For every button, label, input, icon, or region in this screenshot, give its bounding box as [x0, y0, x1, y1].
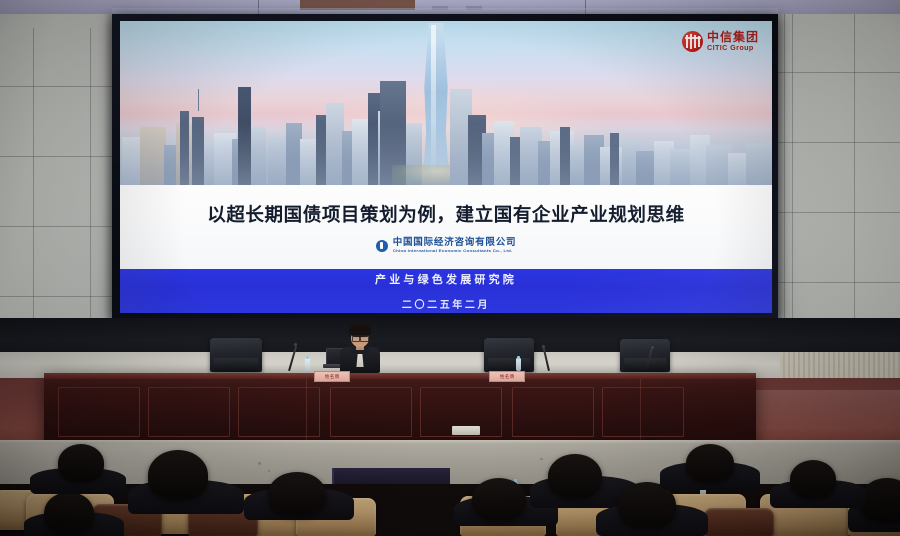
- audience-seat: [704, 508, 774, 536]
- organization-name-cn: 中国国际经济咨询有限公司: [393, 238, 517, 248]
- nameplate-label: 姓名牌: [325, 373, 340, 379]
- audience-head: [148, 450, 208, 500]
- slide-hero-photo: 中信集团 CITIC Group: [120, 21, 772, 185]
- slide-blue-band: 产业与绿色发展研究院 二〇二五年二月: [120, 269, 772, 313]
- dais-chair: [620, 339, 670, 372]
- atmospheric-haze: [120, 123, 772, 185]
- dais-top-edge: [44, 373, 756, 379]
- barrier-cap: [0, 440, 900, 444]
- citic-mark-icon: [682, 31, 703, 52]
- audience-head: [686, 444, 734, 482]
- organization-logo: 中国国际经济咨询有限公司 China International Economi…: [376, 238, 517, 254]
- speaker-glasses: [352, 335, 369, 339]
- ciec-mark-icon: [376, 240, 388, 252]
- audience-head: [58, 444, 104, 482]
- slide-date: 二〇二五年二月: [402, 296, 490, 311]
- microphone-head: [294, 343, 297, 346]
- nameplate-label: 姓名牌: [500, 373, 515, 379]
- slide-department: 产业与绿色发展研究院: [375, 271, 517, 287]
- presentation-screen: 中信集团 CITIC Group 以超长期国债项目策划为例，建立国有企业产业规划…: [120, 21, 772, 313]
- microphone-head: [542, 345, 545, 348]
- audience-head: [472, 478, 526, 520]
- slide-title: 以超长期国债项目策划为例，建立国有企业产业规划思维: [207, 201, 685, 227]
- screenshot-root: 中信集团 CITIC Group 以超长期国债项目策划为例，建立国有企业产业规划…: [0, 0, 900, 536]
- dais-chair: [210, 338, 262, 372]
- water-bottle: [305, 358, 310, 371]
- citic-logo-name-en: CITIC Group: [707, 44, 759, 51]
- audience-head: [44, 492, 94, 534]
- audience-head: [860, 478, 900, 522]
- nameplate: 姓名牌: [314, 371, 350, 382]
- citic-logo-name-cn: 中信集团: [707, 31, 759, 43]
- nameplate: 姓名牌: [489, 371, 525, 382]
- audience-head: [548, 454, 602, 498]
- water-bottle: [516, 358, 521, 371]
- speaker-person: [338, 320, 382, 372]
- audience-head: [268, 472, 326, 516]
- back-wall-dark: [0, 318, 900, 356]
- citic-group-logo: 中信集团 CITIC Group: [682, 31, 759, 52]
- audience-head: [790, 460, 836, 498]
- microphone-head: [651, 346, 654, 349]
- floor-junction-box: [452, 426, 480, 435]
- organization-name-en: China International Economic Consultants…: [393, 249, 517, 253]
- dais-chair: [484, 338, 534, 372]
- slide-title-band: 以超长期国债项目策划为例，建立国有企业产业规划思维 中国国际经济咨询有限公司 C…: [120, 185, 772, 269]
